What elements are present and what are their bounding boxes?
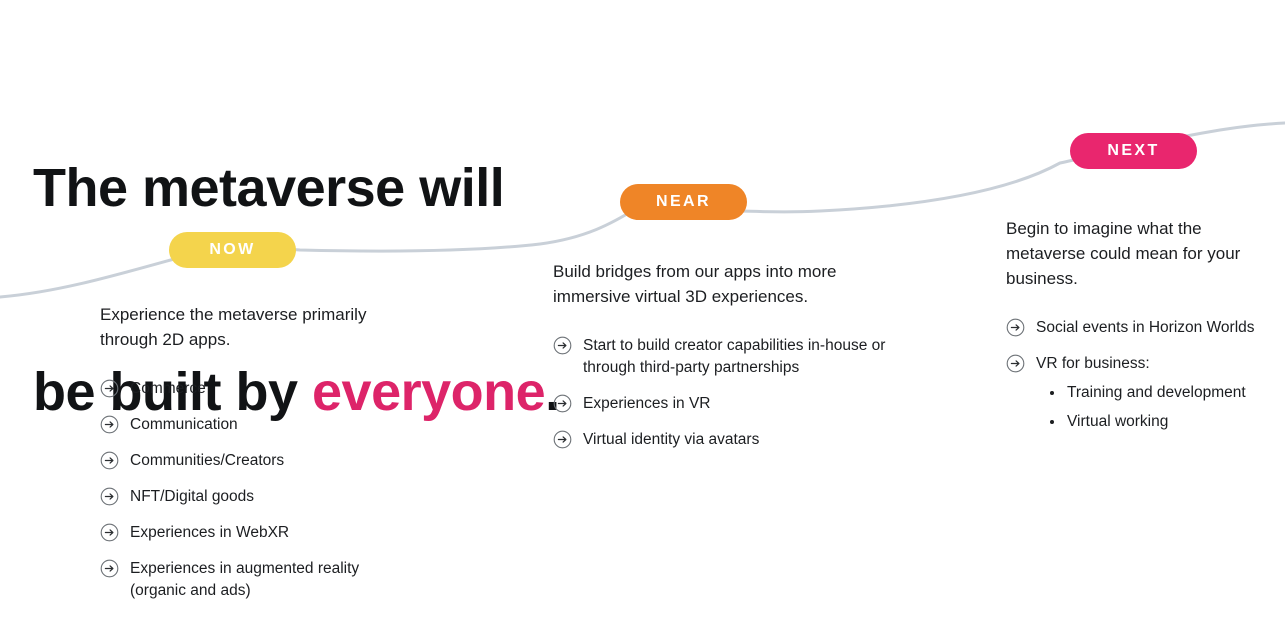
- stage-item-list-near: Start to build creator capabilities in-h…: [553, 335, 903, 451]
- sub-list-item[interactable]: Virtual working: [1050, 411, 1266, 433]
- stage-intro-near: Build bridges from our apps into more im…: [553, 259, 903, 309]
- list-item-label: VR for business:: [1036, 355, 1150, 372]
- list-item-label: Experiences in VR: [583, 393, 903, 415]
- list-item[interactable]: NFT/Digital goods: [100, 486, 370, 508]
- list-item[interactable]: Experiences in augmented reality (organi…: [100, 558, 370, 602]
- list-item[interactable]: Experiences in WebXR: [100, 522, 370, 544]
- circle-arrow-right-icon: [1006, 354, 1025, 373]
- circle-arrow-right-icon: [1006, 318, 1025, 337]
- circle-arrow-right-icon: [100, 523, 119, 542]
- list-item-label: Start to build creator capabilities in-h…: [583, 335, 903, 379]
- circle-arrow-right-icon: [100, 487, 119, 506]
- sub-item-list: Training and development Virtual working: [1036, 382, 1266, 433]
- circle-arrow-right-icon: [553, 430, 572, 449]
- circle-arrow-right-icon: [100, 379, 119, 398]
- bullet-dot-icon: [1050, 420, 1054, 424]
- stage-intro-now: Experience the metaverse primarily throu…: [100, 302, 370, 352]
- stage-badge-near[interactable]: NEAR: [620, 184, 747, 220]
- stage-badge-next[interactable]: NEXT: [1070, 133, 1197, 169]
- circle-arrow-right-icon: [553, 394, 572, 413]
- stage-column-now: Experience the metaverse primarily throu…: [100, 302, 370, 602]
- circle-arrow-right-icon: [100, 451, 119, 470]
- stage-badge-now-label: NOW: [209, 241, 255, 259]
- list-item-label: Commerce: [130, 378, 370, 400]
- list-item[interactable]: Virtual identity via avatars: [553, 429, 903, 451]
- list-item-label: Experiences in WebXR: [130, 522, 370, 544]
- stage-item-list-next: Social events in Horizon Worlds VR for b…: [1006, 317, 1266, 433]
- list-item-label: Virtual identity via avatars: [583, 429, 903, 451]
- list-item[interactable]: VR for business: Training and developmen…: [1006, 353, 1266, 433]
- stage-item-list-now: Commerce Communication Communities/Creat…: [100, 378, 370, 602]
- sub-list-item-label: Training and development: [1067, 382, 1246, 404]
- sub-list-item[interactable]: Training and development: [1050, 382, 1266, 404]
- circle-arrow-right-icon: [553, 336, 572, 355]
- list-item-label: Experiences in augmented reality (organi…: [130, 558, 370, 602]
- circle-arrow-right-icon: [100, 559, 119, 578]
- list-item-group: VR for business: Training and developmen…: [1036, 353, 1266, 433]
- list-item[interactable]: Start to build creator capabilities in-h…: [553, 335, 903, 379]
- list-item[interactable]: Experiences in VR: [553, 393, 903, 415]
- stage-intro-next: Begin to imagine what the metaverse coul…: [1006, 216, 1266, 291]
- stage-column-near: Build bridges from our apps into more im…: [553, 259, 903, 451]
- list-item[interactable]: Social events in Horizon Worlds: [1006, 317, 1266, 339]
- list-item[interactable]: Commerce: [100, 378, 370, 400]
- list-item[interactable]: Communities/Creators: [100, 450, 370, 472]
- stage-badge-near-label: NEAR: [656, 193, 711, 211]
- list-item-label: Communities/Creators: [130, 450, 370, 472]
- stage-badge-now[interactable]: NOW: [169, 232, 296, 268]
- stage-column-next: Begin to imagine what the metaverse coul…: [1006, 216, 1266, 433]
- headline-line-1: The metaverse will: [33, 154, 560, 222]
- list-item[interactable]: Communication: [100, 414, 370, 436]
- list-item-label: Social events in Horizon Worlds: [1036, 317, 1266, 339]
- circle-arrow-right-icon: [100, 415, 119, 434]
- list-item-label: Communication: [130, 414, 370, 436]
- bullet-dot-icon: [1050, 391, 1054, 395]
- stage-badge-next-label: NEXT: [1107, 142, 1159, 160]
- list-item-label: NFT/Digital goods: [130, 486, 370, 508]
- sub-list-item-label: Virtual working: [1067, 411, 1168, 433]
